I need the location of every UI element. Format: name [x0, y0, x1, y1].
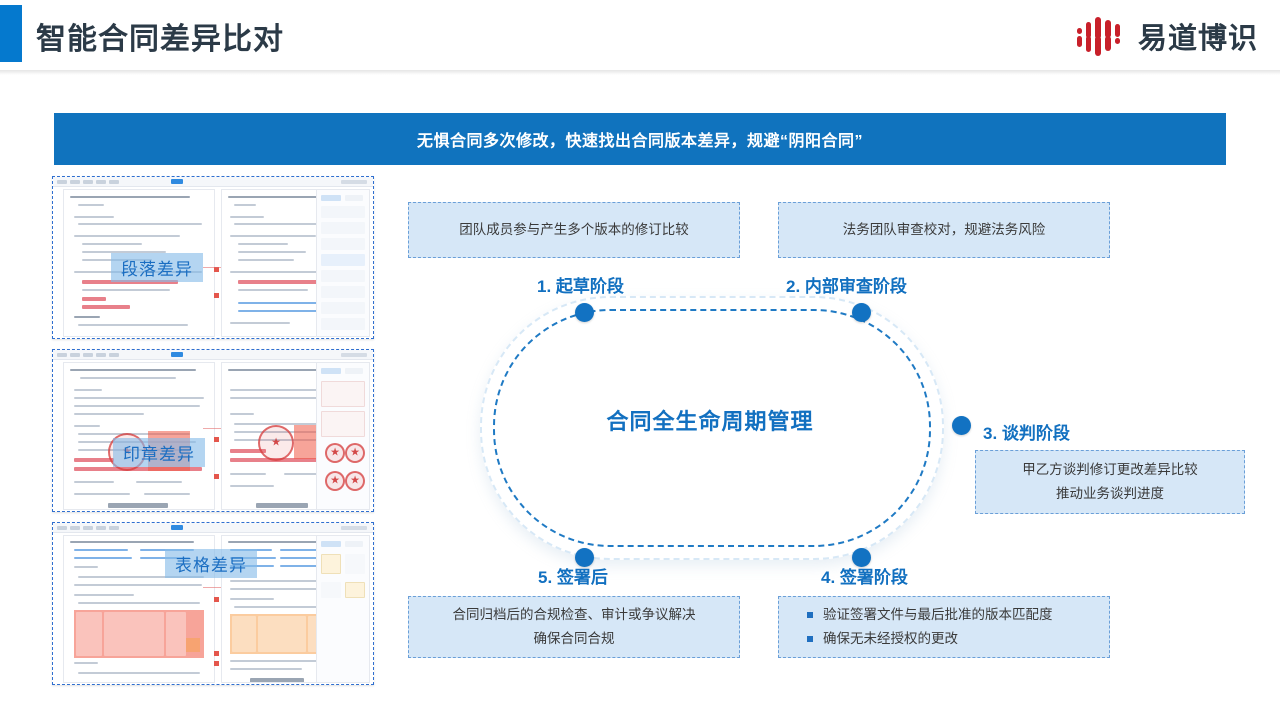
thumbnail-label-paragraph: 段落差异 [111, 253, 203, 282]
callout-line: 甲乙方谈判修订更改差异比较 [1022, 458, 1198, 482]
callout-line: 确保无未经授权的更改 [823, 627, 958, 651]
stage-label-4: 4. 签署阶段 [821, 563, 908, 588]
screenshot-thumbnails: 段落差异 [52, 176, 374, 695]
thumbnail-seal-diff[interactable]: 印章差异 [52, 349, 374, 512]
thumbnail-table-diff[interactable]: 表格差异 [52, 522, 374, 685]
brand-bars-icon [1076, 14, 1128, 58]
callout-line: 确保合同合规 [534, 627, 615, 651]
callout-line: 验证签署文件与最后批准的版本匹配度 [823, 603, 1053, 627]
thumb-toolbar [53, 523, 373, 533]
thumb-diff-panel [316, 362, 370, 510]
cycle-node-2[interactable] [852, 303, 871, 322]
cycle-node-3[interactable] [952, 416, 971, 435]
callout-line: 合同归档后的合规检查、审计或争议解决 [453, 603, 696, 627]
stage-label-5: 5. 签署后 [538, 563, 608, 588]
stage-callout-5: 合同归档后的合规检查、审计或争议解决 确保合同合规 [408, 596, 740, 658]
thumb-diff-panel [316, 535, 370, 683]
callout-bullet-line: 确保无未经授权的更改 [807, 627, 958, 651]
slide: 智能合同差异比对 易道博识 无惧合同多次修改，快速找出合同版本差异，规避“阴阳合… [0, 0, 1280, 720]
brand-name: 易道博识 [1138, 15, 1258, 57]
headline-banner: 无惧合同多次修改，快速找出合同版本差异，规避“阴阳合同” [54, 113, 1226, 165]
bullet-square-icon [807, 612, 813, 618]
thumb-toolbar [53, 350, 373, 360]
page-title: 智能合同差异比对 [36, 14, 284, 58]
page-header: 智能合同差异比对 易道博识 [0, 0, 1280, 71]
cycle-center-title: 合同全生命周期管理 [480, 404, 940, 436]
stage-callout-4: 验证签署文件与最后批准的版本匹配度 确保无未经授权的更改 [778, 596, 1110, 658]
callout-bullet-line: 验证签署文件与最后批准的版本匹配度 [807, 603, 1053, 627]
brand-logo: 易道博识 [1076, 13, 1258, 59]
thumb-diff-gutter [213, 362, 221, 508]
thumb-diff-gutter [213, 189, 221, 335]
stage-label-1: 1. 起草阶段 [537, 272, 624, 297]
stage-callout-3: 甲乙方谈判修订更改差异比较 推动业务谈判进度 [975, 450, 1245, 514]
thumb-doc-left [63, 362, 215, 510]
cycle-node-1[interactable] [575, 303, 594, 322]
thumbnail-label-table: 表格差异 [165, 549, 257, 578]
callout-line: 推动业务谈判进度 [1056, 482, 1164, 506]
header-accent-bar [0, 5, 22, 62]
stage-callout-1: 团队成员参与产生多个版本的修订比较 [408, 202, 740, 258]
stage-label-3: 3. 谈判阶段 [983, 419, 1070, 444]
bullet-square-icon [807, 636, 813, 642]
callout-line: 团队成员参与产生多个版本的修订比较 [459, 218, 689, 242]
stage-callout-2: 法务团队审查校对，规避法务风险 [778, 202, 1110, 258]
thumbnail-paragraph-diff[interactable]: 段落差异 [52, 176, 374, 339]
thumbnail-label-seal: 印章差异 [113, 438, 205, 467]
stage-label-2: 2. 内部审查阶段 [786, 272, 907, 297]
thumb-toolbar [53, 177, 373, 187]
thumb-diff-panel [316, 189, 370, 337]
lifecycle-diagram: 合同全生命周期管理 1. 起草阶段 2. 内部审查阶段 3. 谈判阶段 4. 签… [400, 176, 1250, 696]
callout-line: 法务团队审查校对，规避法务风险 [843, 218, 1046, 242]
